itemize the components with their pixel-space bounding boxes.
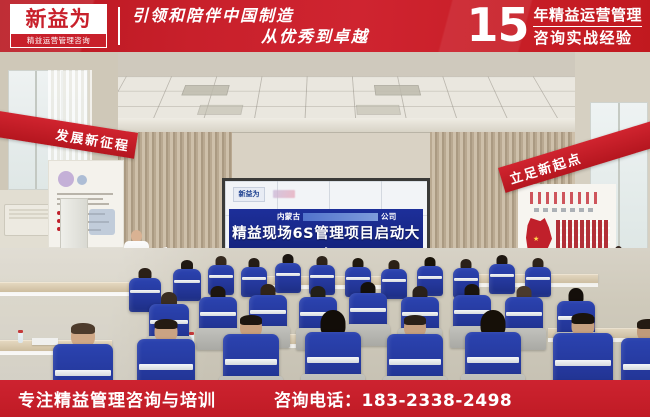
attendee [552,314,614,380]
experience-badge: 15 年精益运营管理 咨询实战经验 [466,2,642,50]
screen-logo: 新益为 [233,187,265,202]
poster-image: 新益为 精益运营管理咨询 引领和陪伴中国制造 从优秀到卓越 15 年精益运营管理… [0,0,650,417]
years-line-1: 年精益运营管理 [533,5,642,27]
screen-title-redacted [303,213,378,221]
screen-title-suffix: 公司 [381,211,397,223]
slogan-line-2: 从优秀到卓越 [128,26,383,47]
attendee [52,324,114,380]
ceiling-light [181,85,229,95]
header-banner: 新益为 精益运营管理咨询 引领和陪伴中国制造 从优秀到卓越 15 年精益运营管理… [0,0,650,52]
display-heading [530,192,600,204]
footer-banner: 专注精益管理咨询与培训 咨询电话：183-2338-2498 [0,380,650,417]
screen-title-bar: 内蒙古 公司 精益现场6S管理项目启动大会 [229,209,423,249]
screen-title-prefix: 内蒙古 [277,211,300,223]
attendee [620,320,650,380]
water-bottle [18,330,23,343]
company-logo: 新益为 精益运营管理咨询 [10,4,107,48]
footer-left-text: 专注精益管理咨询与培训 [18,386,216,411]
desk-row [0,282,144,292]
header-divider [118,7,120,45]
attendee-ponytail [304,310,362,380]
header-slogan: 引领和陪伴中国制造 从优秀到卓越 [128,5,383,49]
display-subheading [534,208,596,212]
ceiling-light [197,105,243,115]
screen-secondary-logo [273,190,295,198]
attendee [222,316,280,380]
attendee [386,316,444,380]
logo-brand-text: 新益为 [11,5,106,34]
star-icon: ★ [533,236,539,243]
attendee [136,320,196,380]
years-line-2: 咨询实战经验 [533,27,642,48]
attendee-ponytail [464,310,522,380]
slogan-line-1: 引领和陪伴中国制造 [128,5,383,26]
years-number: 15 [466,2,533,48]
ceiling-light [356,105,401,115]
logo-tagline-text: 精益运营管理咨询 [11,34,106,47]
screen-logo-text: 新益为 [239,191,260,198]
ceiling-light [374,85,421,95]
conference-photo: ★ 发展新征程 立足新起点 新益为 内蒙古 [0,52,650,380]
footer-phone-text: 咨询电话：183-2338-2498 [274,386,512,411]
